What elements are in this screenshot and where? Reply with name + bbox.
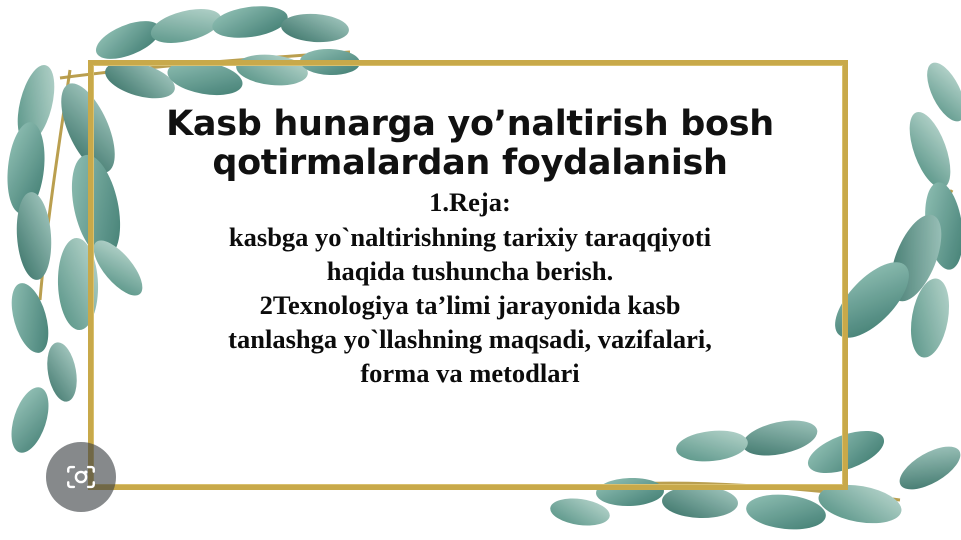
slide-text-area: Kasb hunarga yo’naltirish bosh qotirmala… xyxy=(120,105,820,390)
camera-lens-icon xyxy=(64,460,98,494)
google-lens-button[interactable] xyxy=(46,442,116,512)
slide-title: Kasb hunarga yo’naltirish bosh qotirmala… xyxy=(120,105,820,183)
slide-canvas: Kasb hunarga yo’naltirish bosh qotirmala… xyxy=(0,0,961,540)
slide-body-text: 1.Reja: kasbga yo`naltirishning tarixiy … xyxy=(120,185,820,390)
